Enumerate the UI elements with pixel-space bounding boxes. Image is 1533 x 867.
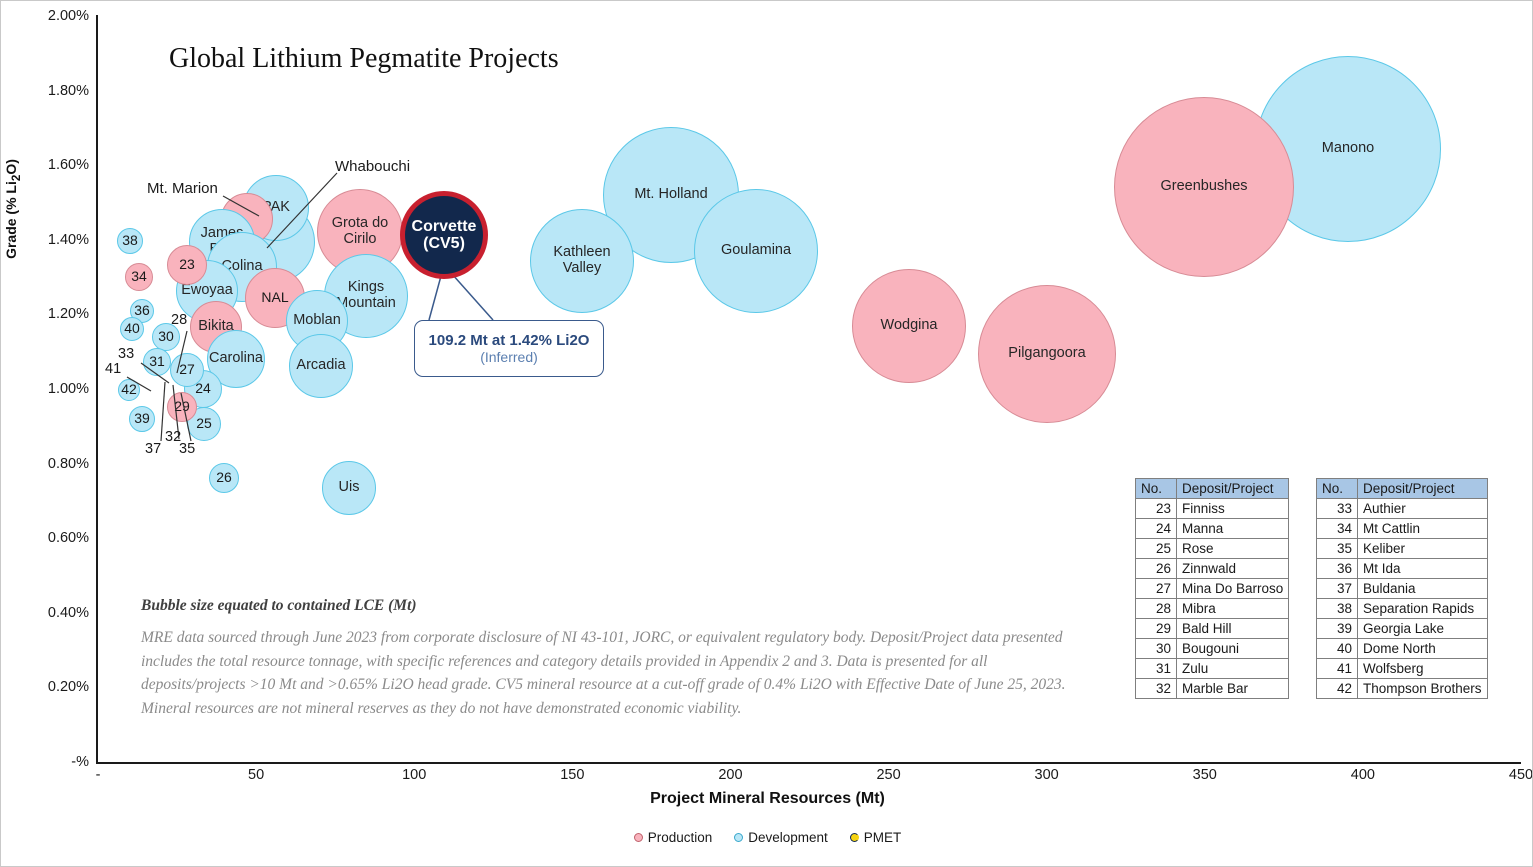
y-tick-5: 1.00% xyxy=(9,381,89,397)
y-axis-title-sub: 2 xyxy=(10,175,23,181)
legend-label: Development xyxy=(748,830,828,845)
table-row: 32Marble Bar xyxy=(1136,679,1289,699)
legend-item-pmet[interactable]: PMET xyxy=(850,830,902,845)
table-cell-no: 41 xyxy=(1317,659,1358,679)
table-cell-no: 32 xyxy=(1136,679,1177,699)
footnote-heading: Bubble size equated to contained LCE (Mt… xyxy=(141,597,417,615)
table-row: 29Bald Hill xyxy=(1136,619,1289,639)
table-row: 26Zinnwald xyxy=(1136,559,1289,579)
x-tick-0: - xyxy=(96,767,101,783)
legend-label: PMET xyxy=(864,830,902,845)
y-tick-1: 1.80% xyxy=(9,83,89,99)
callout-box: 109.2 Mt at 1.42% Li2O (Inferred) xyxy=(414,320,604,377)
table-cell-no: 27 xyxy=(1136,579,1177,599)
bubble-label: Uis xyxy=(339,480,360,496)
bubble-label: 42 xyxy=(121,382,137,397)
table-cell-project: Marble Bar xyxy=(1177,679,1289,699)
reference-table-left: No. Deposit/Project 23Finniss24Manna25Ro… xyxy=(1135,478,1289,699)
table-header-row: No. Deposit/Project xyxy=(1136,479,1289,499)
table-row: 35Keliber xyxy=(1317,539,1488,559)
table-row: 25Rose xyxy=(1136,539,1289,559)
bubble-label: Greenbushes xyxy=(1160,179,1247,195)
bubble-label: NAL xyxy=(261,290,288,305)
table-cell-no: 25 xyxy=(1136,539,1177,559)
table-row: 27Mina Do Barroso xyxy=(1136,579,1289,599)
legend-item-development[interactable]: Development xyxy=(734,830,828,845)
table-cell-project: Finniss xyxy=(1177,499,1289,519)
leader-label-41: 41 xyxy=(105,361,121,377)
y-tick-0: 2.00% xyxy=(9,8,89,24)
table-row: 30Bougouni xyxy=(1136,639,1289,659)
table-row: 42Thompson Brothers xyxy=(1317,679,1488,699)
y-tick-7: 0.60% xyxy=(9,530,89,546)
x-tick-5: 250 xyxy=(876,767,900,783)
table-cell-project: Thompson Brothers xyxy=(1358,679,1488,699)
x-tick-3: 150 xyxy=(560,767,584,783)
bubble-label: Arcadia xyxy=(296,358,345,374)
y-axis-title: Grade (% Li2O) xyxy=(3,119,23,299)
table-cell-project: Zulu xyxy=(1177,659,1289,679)
bubble-label: Grota do Cirilo xyxy=(332,216,388,247)
x-axis-line xyxy=(96,762,1521,764)
bubble-label: 25 xyxy=(196,416,212,431)
table-cell-no: 30 xyxy=(1136,639,1177,659)
table-cell-no: 33 xyxy=(1317,499,1358,519)
y-tick-8: 0.40% xyxy=(9,605,89,621)
table-header-row: No. Deposit/Project xyxy=(1317,479,1488,499)
y-tick-4: 1.20% xyxy=(9,306,89,322)
bubble-label: Pilgangoora xyxy=(1008,346,1085,362)
bubble-label: 23 xyxy=(179,257,195,272)
table-header-project: Deposit/Project xyxy=(1358,479,1488,499)
page-title: Global Lithium Pegmatite Projects xyxy=(169,43,559,75)
table-cell-no: 31 xyxy=(1136,659,1177,679)
table-row: 36Mt Ida xyxy=(1317,559,1488,579)
bubble-arcadia[interactable]: Arcadia xyxy=(289,334,353,398)
y-axis-line xyxy=(96,15,98,763)
bubble-label: Kathleen Valley xyxy=(553,245,610,276)
bubble-label: Moblan xyxy=(293,313,341,329)
x-tick-4: 200 xyxy=(718,767,742,783)
table-cell-project: Mibra xyxy=(1177,599,1289,619)
table-cell-no: 24 xyxy=(1136,519,1177,539)
legend-label: Production xyxy=(648,830,713,845)
bubble-n39[interactable]: 39 xyxy=(129,406,155,432)
bubble-pilgangoora[interactable]: Pilgangoora xyxy=(978,285,1116,423)
table-row: 23Finniss xyxy=(1136,499,1289,519)
table-cell-project: Bougouni xyxy=(1177,639,1289,659)
table-cell-no: 35 xyxy=(1317,539,1358,559)
bubble-label: 27 xyxy=(179,362,195,377)
x-axis-title: Project Mineral Resources (Mt) xyxy=(1,790,1533,808)
table-cell-project: Dome North xyxy=(1358,639,1488,659)
x-tick-2: 100 xyxy=(402,767,426,783)
table-row: 31Zulu xyxy=(1136,659,1289,679)
table-cell-no: 29 xyxy=(1136,619,1177,639)
table-header-project: Deposit/Project xyxy=(1177,479,1289,499)
table-row: 33Authier xyxy=(1317,499,1488,519)
table-cell-no: 40 xyxy=(1317,639,1358,659)
bubble-n26[interactable]: 26 xyxy=(209,463,239,493)
reference-table-left-body: 23Finniss24Manna25Rose26Zinnwald27Mina D… xyxy=(1136,499,1289,699)
leader-label-33: 33 xyxy=(118,346,134,362)
table-row: 34Mt Cattlin xyxy=(1317,519,1488,539)
table-cell-project: Mt Ida xyxy=(1358,559,1488,579)
table-row: 41Wolfsberg xyxy=(1317,659,1488,679)
bubble-label: 31 xyxy=(149,354,165,369)
legend-item-production[interactable]: Production xyxy=(634,830,713,845)
bubble-label: Corvette (CV5) xyxy=(412,218,477,253)
bubble-label: Mt. Holland xyxy=(634,187,707,203)
table-cell-no: 23 xyxy=(1136,499,1177,519)
table-row: 38Separation Rapids xyxy=(1317,599,1488,619)
reference-table-right: No. Deposit/Project 33Authier34Mt Cattli… xyxy=(1316,478,1488,699)
table-cell-project: Rose xyxy=(1177,539,1289,559)
bubble-corvette[interactable]: Corvette (CV5) xyxy=(400,191,488,279)
bubble-label: Goulamina xyxy=(721,243,791,259)
bubble-n42[interactable]: 42 xyxy=(118,379,140,401)
x-tick-1: 50 xyxy=(248,767,264,783)
legend-swatch-production-icon xyxy=(634,833,643,842)
bubble-n38[interactable]: 38 xyxy=(117,228,143,254)
table-cell-project: Bald Hill xyxy=(1177,619,1289,639)
table-row: 39Georgia Lake xyxy=(1317,619,1488,639)
bubble-n23[interactable]: 23 xyxy=(167,245,207,285)
bubble-uis[interactable]: Uis xyxy=(322,461,376,515)
bubble-wodgina[interactable]: Wodgina xyxy=(852,269,966,383)
bubble-n29[interactable]: 29 xyxy=(167,392,197,422)
table-row: 28Mibra xyxy=(1136,599,1289,619)
leader-label-28: 28 xyxy=(171,312,187,328)
table-cell-no: 34 xyxy=(1317,519,1358,539)
chart-legend: ProductionDevelopmentPMET xyxy=(1,830,1533,845)
chart-page: 2.00%1.80%1.60%1.40%1.20%1.00%0.80%0.60%… xyxy=(0,0,1533,867)
y-tick-9: 0.20% xyxy=(9,679,89,695)
bubble-n31[interactable]: 31 xyxy=(143,348,171,376)
table-row: 40Dome North xyxy=(1317,639,1488,659)
table-cell-no: 42 xyxy=(1317,679,1358,699)
x-tick-7: 350 xyxy=(1193,767,1217,783)
y-tick-6: 0.80% xyxy=(9,456,89,472)
bubble-label: 34 xyxy=(131,269,147,284)
table-cell-project: Mt Cattlin xyxy=(1358,519,1488,539)
table-header-no: No. xyxy=(1317,479,1358,499)
table-cell-no: 39 xyxy=(1317,619,1358,639)
bubble-label: 38 xyxy=(122,233,138,248)
x-tick-9: 450 xyxy=(1509,767,1533,783)
bubble-label: Manono xyxy=(1322,141,1374,157)
table-cell-no: 38 xyxy=(1317,599,1358,619)
bubble-greenbushes[interactable]: Greenbushes xyxy=(1114,97,1294,277)
bubble-n34[interactable]: 34 xyxy=(125,263,153,291)
y-tick-10: -% xyxy=(9,754,89,770)
bubble-n40[interactable]: 40 xyxy=(120,317,144,341)
reference-table-right-body: 33Authier34Mt Cattlin35Keliber36Mt Ida37… xyxy=(1317,499,1488,699)
leader-label-35: 35 xyxy=(179,441,195,457)
bubble-label: 40 xyxy=(124,321,140,336)
bubble-n27[interactable]: 27 xyxy=(170,353,204,387)
bubble-label: Carolina xyxy=(209,351,263,367)
table-cell-no: 26 xyxy=(1136,559,1177,579)
table-cell-project: Mina Do Barroso xyxy=(1177,579,1289,599)
footnote-body: MRE data sourced through June 2023 from … xyxy=(141,626,1091,720)
bubble-label: 26 xyxy=(216,470,232,485)
table-cell-project: Buldania xyxy=(1358,579,1488,599)
legend-swatch-development-icon xyxy=(734,833,743,842)
table-cell-project: Authier xyxy=(1358,499,1488,519)
callout-line-1: 109.2 Mt at 1.42% Li2O xyxy=(429,332,590,349)
table-header-no: No. xyxy=(1136,479,1177,499)
callout-line-2: (Inferred) xyxy=(480,349,538,365)
y-axis-title-end: O) xyxy=(3,159,19,175)
bubble-label: 24 xyxy=(195,381,211,396)
table-cell-no: 36 xyxy=(1317,559,1358,579)
bubble-label: 29 xyxy=(174,399,190,414)
leader-label-mt-marion: Mt. Marion xyxy=(147,180,218,197)
table-row: 37Buldania xyxy=(1317,579,1488,599)
table-cell-project: Wolfsberg xyxy=(1358,659,1488,679)
table-cell-no: 28 xyxy=(1136,599,1177,619)
table-cell-project: Keliber xyxy=(1358,539,1488,559)
x-tick-6: 300 xyxy=(1035,767,1059,783)
table-cell-project: Zinnwald xyxy=(1177,559,1289,579)
bubble-label: 39 xyxy=(134,411,150,426)
bubble-label: Wodgina xyxy=(881,318,938,334)
table-cell-no: 37 xyxy=(1317,579,1358,599)
leader-label-37: 37 xyxy=(145,441,161,457)
bubble-kathleen-valley[interactable]: Kathleen Valley xyxy=(530,209,634,313)
table-cell-project: Manna xyxy=(1177,519,1289,539)
table-cell-project: Georgia Lake xyxy=(1358,619,1488,639)
legend-swatch-pmet-icon xyxy=(850,833,859,842)
x-tick-8: 400 xyxy=(1351,767,1375,783)
table-cell-project: Separation Rapids xyxy=(1358,599,1488,619)
bubble-label: 30 xyxy=(158,329,174,344)
table-row: 24Manna xyxy=(1136,519,1289,539)
bubble-label: Ewoyaa xyxy=(181,283,233,299)
y-axis-title-text: Grade (% Li xyxy=(3,181,19,259)
bubble-goulamina[interactable]: Goulamina xyxy=(694,189,818,313)
leader-label-whabouchi: Whabouchi xyxy=(335,158,410,175)
bubble-label: 36 xyxy=(134,303,150,318)
